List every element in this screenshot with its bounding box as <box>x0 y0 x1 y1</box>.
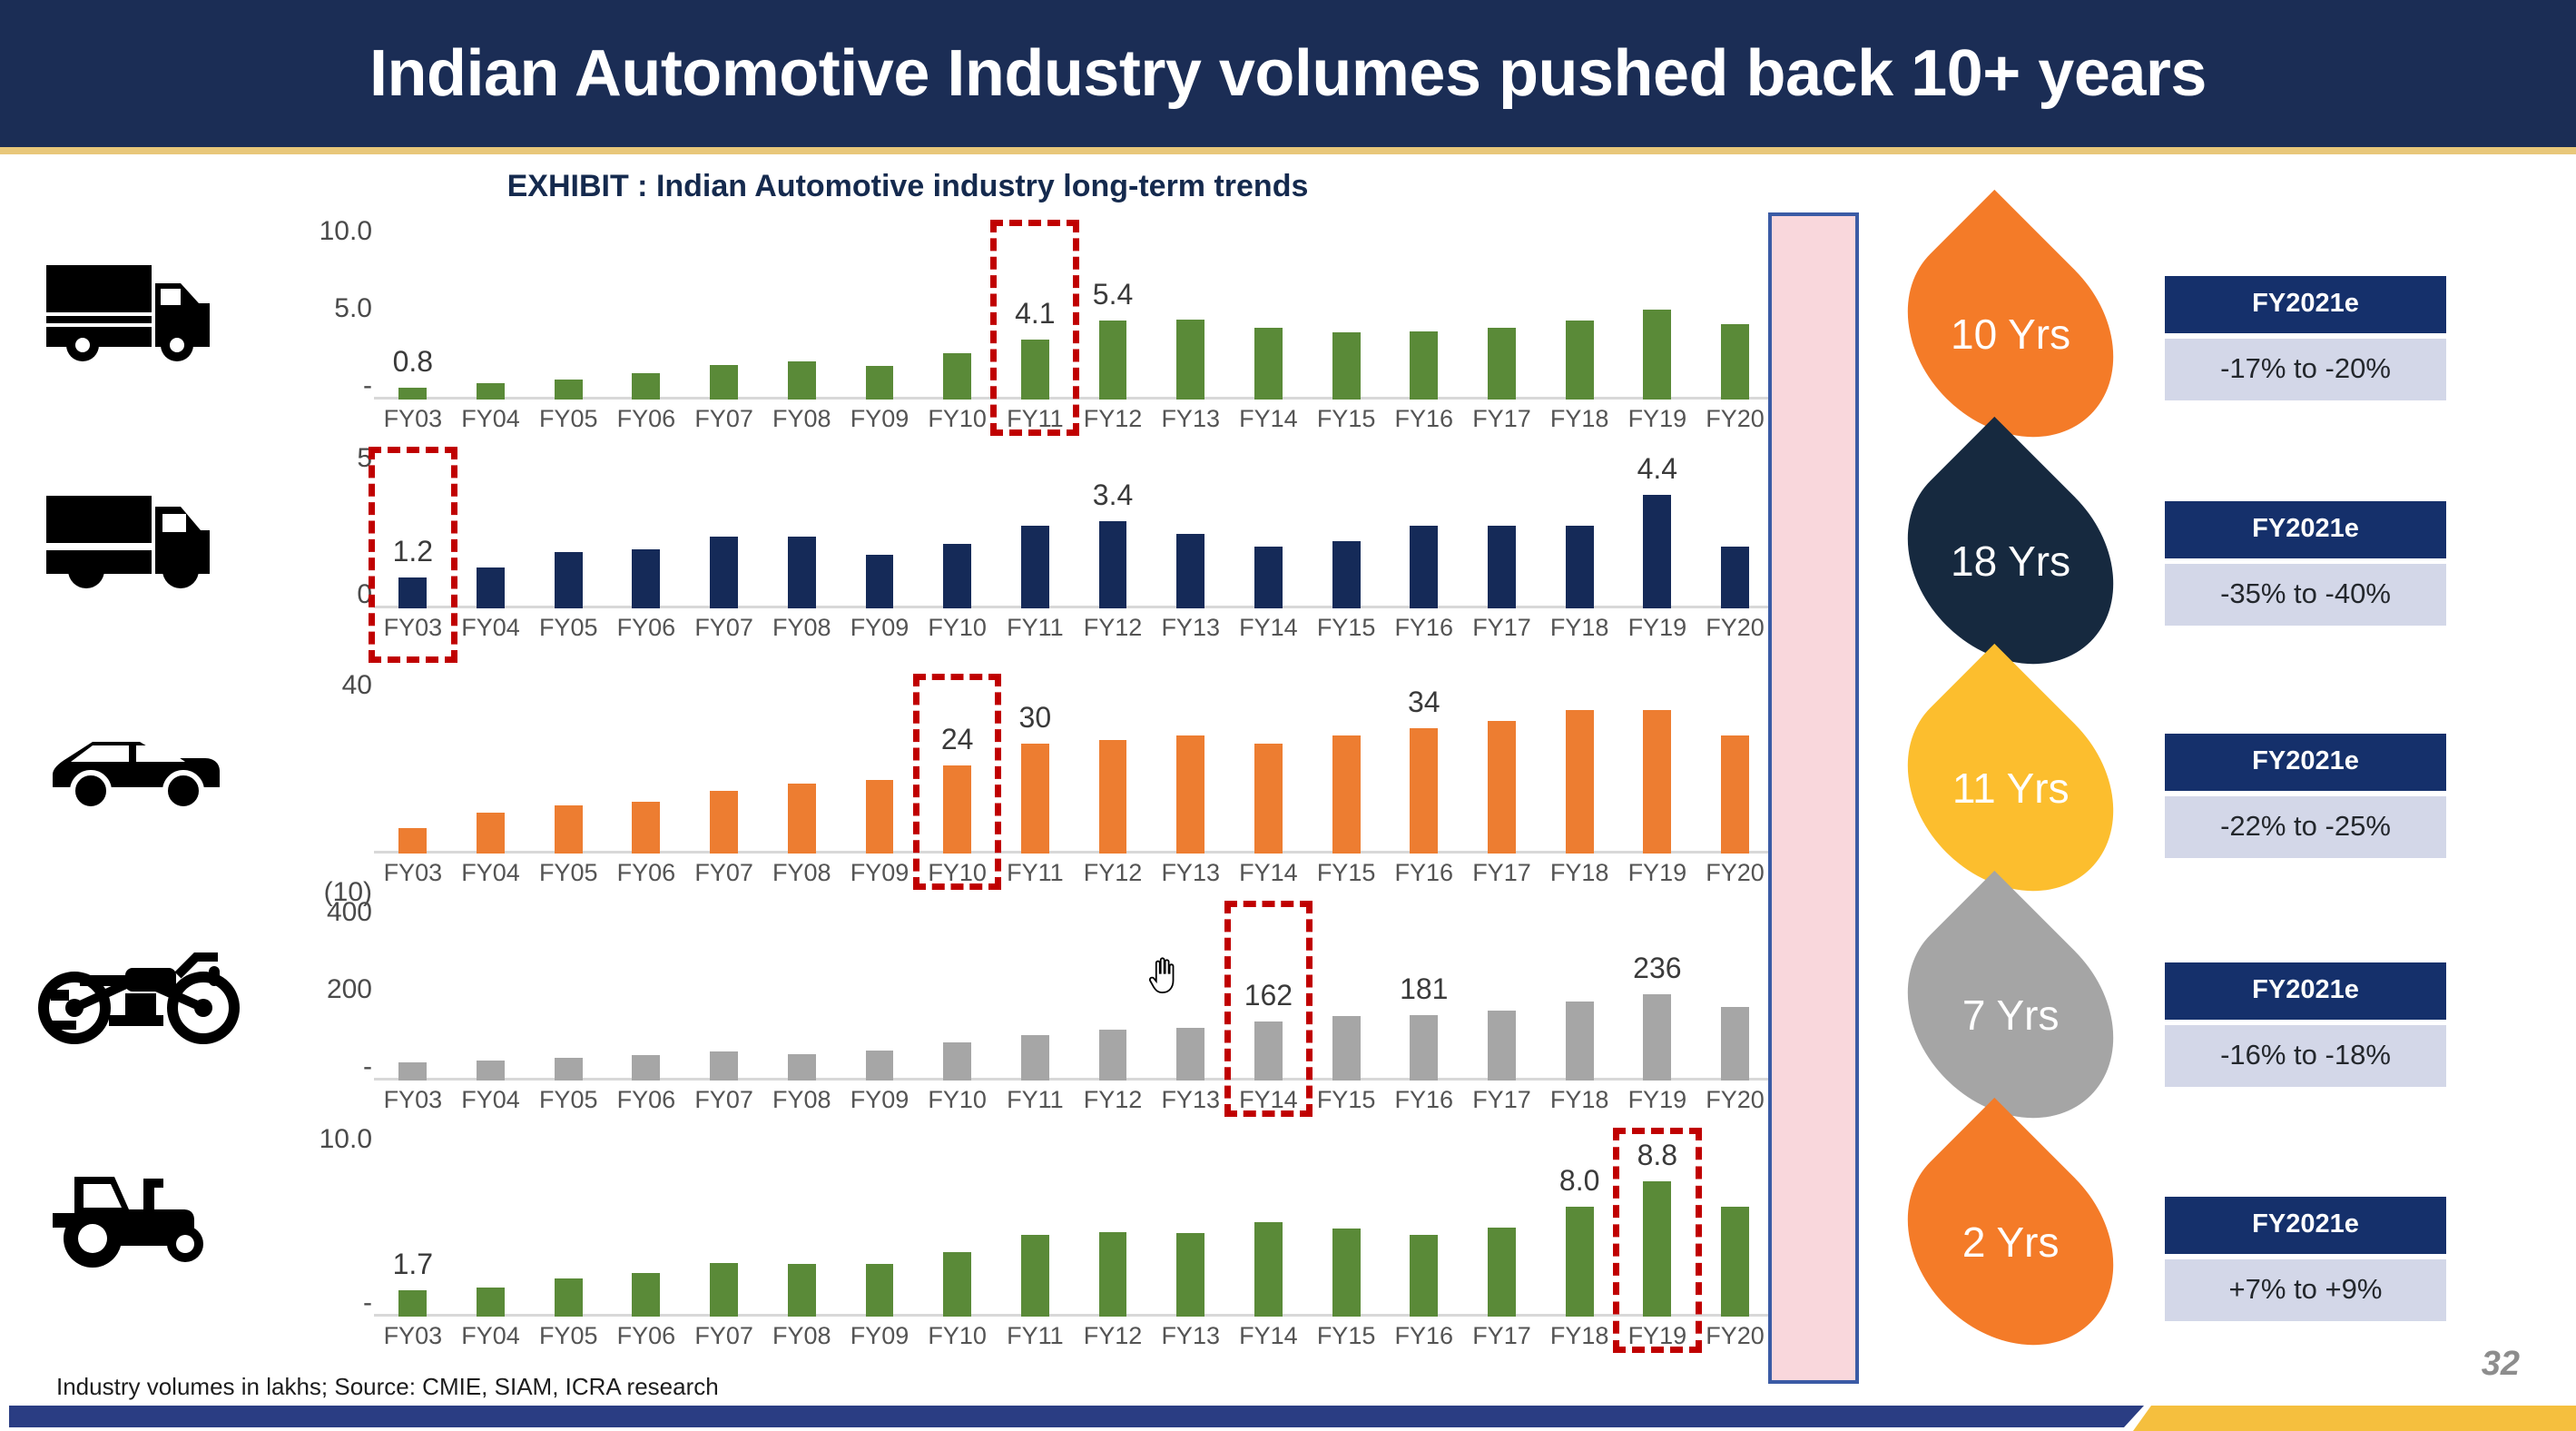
bar[interactable] <box>1332 1229 1361 1317</box>
bar[interactable] <box>1021 1235 1049 1317</box>
bar-chart-pv: 40(10)24303427FY03FY04FY05FY06FY07FY08FY… <box>263 672 1852 899</box>
x-tick-label: FY13 <box>1152 1086 1230 1126</box>
bar-column[interactable]: 5.4 <box>1074 321 1152 400</box>
bar-column[interactable] <box>919 1252 997 1317</box>
bar-column[interactable] <box>1696 735 1775 854</box>
bar[interactable] <box>1021 1035 1049 1081</box>
footer-bar-navy <box>9 1406 2124 1427</box>
bar[interactable] <box>1488 328 1516 400</box>
x-tick-label: FY17 <box>1463 614 1541 654</box>
bar[interactable] <box>1566 1207 1594 1317</box>
page-number: 32 <box>2482 1345 2520 1384</box>
bar[interactable] <box>1410 331 1438 400</box>
x-tick-label: FY06 <box>607 614 685 654</box>
bar-column[interactable] <box>997 526 1075 608</box>
bar-column[interactable] <box>841 1264 919 1317</box>
bar[interactable] <box>788 361 816 400</box>
bar[interactable] <box>1566 710 1594 854</box>
bar[interactable] <box>788 784 816 854</box>
bar[interactable] <box>1176 534 1204 608</box>
callout-box-fy11 <box>990 220 1079 436</box>
plot-area: 0.84.15.44.3FY03FY04FY05FY06FY07FY08FY09… <box>374 231 1852 430</box>
exhibit-subtitle: EXHIBIT : Indian Automotive industry lon… <box>0 169 1815 204</box>
bar-column[interactable] <box>1696 324 1775 400</box>
card-value: -17% to -20% <box>2165 339 2446 400</box>
x-tick-label: FY17 <box>1463 859 1541 899</box>
bar-column[interactable] <box>841 555 919 608</box>
x-tick-label: FY05 <box>529 1322 607 1362</box>
bar[interactable] <box>1176 320 1204 400</box>
bar-column[interactable] <box>1152 735 1230 854</box>
x-tick-label: FY18 <box>1540 859 1618 899</box>
x-tick-label: FY05 <box>529 614 607 654</box>
x-tick-label: FY06 <box>607 859 685 899</box>
bar-column[interactable] <box>1385 526 1463 608</box>
x-tick-label: FY08 <box>762 405 841 445</box>
bar-data-label: 1.7 <box>393 1248 433 1281</box>
charts-plate: 10.05.0-0.84.15.44.3FY03FY04FY05FY06FY07… <box>0 218 2576 1389</box>
plot-area: 1.23.44.41.4FY03FY04FY05FY06FY07FY08FY09… <box>374 458 1852 639</box>
callout-box-fy14 <box>1224 901 1313 1117</box>
bar[interactable] <box>1566 321 1594 400</box>
bar[interactable] <box>1721 1207 1749 1317</box>
car-icon <box>16 681 261 844</box>
bar[interactable] <box>710 1051 738 1081</box>
x-tick-label: FY20 <box>1696 1086 1775 1126</box>
bar-column[interactable] <box>762 361 841 400</box>
bar[interactable] <box>398 828 427 854</box>
bar-column[interactable] <box>841 780 919 854</box>
bar-series: 1.23.44.41.4 <box>374 472 1852 608</box>
bar[interactable] <box>1254 547 1283 608</box>
bar[interactable] <box>1488 721 1516 854</box>
bar[interactable] <box>1643 710 1671 854</box>
bar[interactable] <box>1099 521 1127 608</box>
bar-column[interactable] <box>607 1055 685 1081</box>
bar[interactable] <box>943 544 971 608</box>
bar-column[interactable] <box>1540 1002 1618 1081</box>
bar-column[interactable]: 34 <box>1385 728 1463 854</box>
bar[interactable] <box>1410 526 1438 608</box>
years-badge-tractor[interactable]: 2 Yrs <box>1866 1098 2155 1387</box>
x-tick-label: FY16 <box>1385 1322 1463 1362</box>
bar[interactable] <box>866 366 894 400</box>
bar-data-label: 181 <box>1400 972 1448 1006</box>
bar-column[interactable] <box>685 1263 763 1317</box>
card-header: FY2021e <box>2165 501 2446 558</box>
x-tick-label: FY20 <box>1696 405 1775 445</box>
bar-series: 0.84.15.44.3 <box>374 245 1852 400</box>
bar[interactable] <box>1721 324 1749 400</box>
x-tick-label: FY18 <box>1540 1322 1618 1362</box>
x-tick-label: FY07 <box>685 405 763 445</box>
bar-column[interactable] <box>1540 526 1618 608</box>
bar[interactable] <box>943 1042 971 1081</box>
bar[interactable] <box>555 552 583 608</box>
bar[interactable] <box>1410 728 1438 854</box>
bar-column[interactable] <box>1540 321 1618 400</box>
bar-column[interactable] <box>919 353 997 400</box>
bar-data-label: 5.4 <box>1093 278 1133 311</box>
bar-column[interactable] <box>452 1061 530 1081</box>
bar[interactable] <box>1721 547 1749 608</box>
x-tick-label: FY17 <box>1463 405 1541 445</box>
x-tick-label: FY03 <box>374 1086 452 1126</box>
card-value: -16% to -18% <box>2165 1025 2446 1087</box>
y-tick-label: 200 <box>263 974 372 1005</box>
x-tick-label: FY12 <box>1074 614 1152 654</box>
x-tick-label: FY16 <box>1385 405 1463 445</box>
x-tick-label: FY19 <box>1618 614 1696 654</box>
x-tick-label: FY14 <box>1230 859 1308 899</box>
bar[interactable] <box>398 1290 427 1317</box>
x-tick-label: FY16 <box>1385 859 1463 899</box>
bar[interactable] <box>866 555 894 608</box>
bar-column[interactable]: 8.0 <box>1540 1207 1618 1317</box>
bar[interactable] <box>943 1252 971 1317</box>
bar-column[interactable] <box>841 366 919 400</box>
bar-column[interactable] <box>1230 547 1308 608</box>
bar-column[interactable] <box>1074 1232 1152 1317</box>
bar[interactable] <box>1254 1222 1283 1317</box>
x-tick-label: FY20 <box>1696 1322 1775 1362</box>
x-axis-labels: FY03FY04FY05FY06FY07FY08FY09FY10FY11FY12… <box>374 405 1852 445</box>
bar-column[interactable] <box>1385 331 1463 400</box>
y-tick-label: - <box>263 1051 372 1082</box>
x-tick-label: FY11 <box>997 1322 1075 1362</box>
x-tick-label: FY18 <box>1540 1086 1618 1126</box>
bar-column[interactable] <box>1230 744 1308 854</box>
bar[interactable] <box>632 1273 660 1317</box>
bar-column[interactable] <box>607 549 685 608</box>
bar[interactable] <box>710 365 738 400</box>
x-tick-label: FY05 <box>529 1086 607 1126</box>
x-tick-label: FY05 <box>529 859 607 899</box>
x-tick-label: FY19 <box>1618 859 1696 899</box>
page-title: Indian Automotive Industry volumes pushe… <box>369 36 2207 111</box>
card-header: FY2021e <box>2165 734 2446 791</box>
bar[interactable] <box>477 567 505 608</box>
y-tick-label: 10.0 <box>263 216 372 247</box>
bar[interactable] <box>1410 1015 1438 1081</box>
bar-column[interactable] <box>1540 710 1618 854</box>
x-tick-label: FY07 <box>685 614 763 654</box>
bar-column[interactable] <box>919 544 997 608</box>
bar[interactable] <box>555 1058 583 1081</box>
bar-column[interactable] <box>529 805 607 854</box>
x-tick-label: FY07 <box>685 1086 763 1126</box>
bar-column[interactable] <box>997 1235 1075 1317</box>
bar-column[interactable] <box>1307 1016 1385 1081</box>
bar-column[interactable] <box>1152 1028 1230 1081</box>
bar[interactable] <box>1721 735 1749 854</box>
bar-series: 162181236167 <box>374 926 1852 1081</box>
bar-column[interactable] <box>685 1051 763 1081</box>
card-header: FY2021e <box>2165 962 2446 1020</box>
chart-row-mhcv: 501.23.44.41.4FY03FY04FY05FY06FY07FY08FY… <box>0 445 2576 672</box>
bar-column[interactable] <box>452 383 530 400</box>
y-tick-label: 40 <box>263 670 372 701</box>
bar-column[interactable] <box>1307 332 1385 400</box>
footer-bar-gold <box>2151 1406 2576 1431</box>
x-tick-label: FY08 <box>762 1086 841 1126</box>
bar-column[interactable] <box>529 1278 607 1317</box>
bar-column[interactable] <box>1307 1229 1385 1317</box>
bar-column[interactable] <box>762 1054 841 1081</box>
bar[interactable] <box>555 805 583 854</box>
card-value: +7% to +9% <box>2165 1259 2446 1321</box>
bar-data-label: 8.0 <box>1559 1164 1599 1198</box>
bar[interactable] <box>1099 1030 1127 1081</box>
bar[interactable] <box>1488 526 1516 608</box>
bar[interactable] <box>632 1055 660 1081</box>
bar-column[interactable]: 30 <box>997 744 1075 854</box>
bar[interactable] <box>1254 328 1283 400</box>
bar[interactable] <box>555 380 583 400</box>
bar[interactable] <box>1643 994 1671 1081</box>
bar-column[interactable]: 236 <box>1618 994 1696 1081</box>
truck-icon <box>16 454 261 617</box>
bar[interactable] <box>632 802 660 854</box>
bar-data-label: 236 <box>1633 952 1681 985</box>
y-tick-label: 5 <box>263 443 372 474</box>
x-tick-label: FY14 <box>1230 1322 1308 1362</box>
bar[interactable] <box>943 353 971 400</box>
x-tick-label: FY10 <box>919 614 997 654</box>
x-tick-label: FY20 <box>1696 859 1775 899</box>
bar-data-label: 3.4 <box>1093 479 1133 512</box>
plot-area: 162181236167FY03FY04FY05FY06FY07FY08FY09… <box>374 912 1852 1111</box>
x-tick-label: FY13 <box>1152 405 1230 445</box>
x-tick-label: FY18 <box>1540 614 1618 654</box>
bar-data-label: 30 <box>1019 701 1052 735</box>
bar-column[interactable] <box>1074 1030 1152 1081</box>
bar[interactable] <box>1332 541 1361 608</box>
x-tick-label: FY03 <box>374 405 452 445</box>
bar-column[interactable] <box>374 828 452 854</box>
bar-column[interactable] <box>452 567 530 608</box>
bar-column[interactable] <box>762 537 841 608</box>
bar[interactable] <box>1099 1232 1127 1317</box>
bar[interactable] <box>477 1061 505 1081</box>
years-badge-label: 2 Yrs <box>1962 1218 2060 1267</box>
bar-column[interactable] <box>1385 1235 1463 1317</box>
years-badge-label: 18 Yrs <box>1951 537 2070 586</box>
x-tick-label: FY15 <box>1307 1086 1385 1126</box>
x-tick-label: FY13 <box>1152 859 1230 899</box>
motorcycle-icon <box>16 908 261 1071</box>
bar-column[interactable] <box>1463 1011 1541 1081</box>
bar[interactable] <box>1099 740 1127 854</box>
bar[interactable] <box>866 780 894 854</box>
fy2021e-card-two-wheeler: FY2021e-16% to -18% <box>2165 962 2446 1087</box>
bar[interactable] <box>1721 1007 1749 1081</box>
bar-chart-mhcv: 501.23.44.41.4FY03FY04FY05FY06FY07FY08FY… <box>263 445 1852 672</box>
bar-column[interactable]: 3.4 <box>1074 521 1152 608</box>
bar[interactable] <box>398 1062 427 1081</box>
y-tick-label: - <box>263 370 372 401</box>
y-tick-label: 5.0 <box>263 293 372 324</box>
bar-column[interactable] <box>1230 328 1308 400</box>
bar-column[interactable] <box>529 380 607 400</box>
bar-column[interactable] <box>452 813 530 854</box>
x-tick-label: FY05 <box>529 405 607 445</box>
callout-box-fy10 <box>913 674 1002 890</box>
bar-column[interactable] <box>529 552 607 608</box>
x-tick-label: FY09 <box>841 1322 919 1362</box>
bar-column[interactable] <box>1618 710 1696 854</box>
x-tick-label: FY07 <box>685 1322 763 1362</box>
x-tick-label: FY15 <box>1307 859 1385 899</box>
x-tick-label: FY12 <box>1074 405 1152 445</box>
bar-data-label: 34 <box>1408 686 1440 719</box>
bar[interactable] <box>1566 1002 1594 1081</box>
bar[interactable] <box>1643 495 1671 608</box>
bar[interactable] <box>866 1051 894 1081</box>
bar-column[interactable] <box>452 1288 530 1317</box>
x-tick-label: FY18 <box>1540 405 1618 445</box>
x-tick-label: FY11 <box>997 859 1075 899</box>
bar-column[interactable] <box>685 537 763 608</box>
bar[interactable] <box>1643 310 1671 400</box>
bar-column[interactable] <box>1463 526 1541 608</box>
x-tick-label: FY15 <box>1307 1322 1385 1362</box>
bar[interactable] <box>788 537 816 608</box>
bar-column[interactable] <box>1696 1007 1775 1081</box>
x-tick-label: FY09 <box>841 1086 919 1126</box>
plot-area: 24303427FY03FY04FY05FY06FY07FY08FY09FY10… <box>374 685 1852 884</box>
x-tick-label: FY19 <box>1618 405 1696 445</box>
bar-column[interactable]: 4.4 <box>1618 495 1696 608</box>
bar-column[interactable] <box>1463 1228 1541 1317</box>
bar-column[interactable] <box>607 802 685 854</box>
bar[interactable] <box>1021 744 1049 854</box>
bar-column[interactable] <box>1463 721 1541 854</box>
years-badge-label: 11 Yrs <box>1952 764 2070 813</box>
x-tick-label: FY06 <box>607 1322 685 1362</box>
x-tick-label: FY08 <box>762 1322 841 1362</box>
x-tick-label: FY10 <box>919 1086 997 1126</box>
x-tick-label: FY04 <box>452 859 530 899</box>
bar[interactable] <box>1254 744 1283 854</box>
bar-column[interactable]: 0.8 <box>374 388 452 400</box>
bar[interactable] <box>1176 1233 1204 1317</box>
fy21p-highlight-band <box>1768 212 1859 1384</box>
bar-column[interactable] <box>1307 541 1385 608</box>
bar[interactable] <box>477 1288 505 1317</box>
bar-data-label: 0.8 <box>393 345 433 379</box>
bar-column[interactable] <box>607 1273 685 1317</box>
bar-column[interactable] <box>1307 735 1385 854</box>
bar[interactable] <box>1176 1028 1204 1081</box>
bar[interactable] <box>710 537 738 608</box>
bar-data-label: 4.4 <box>1637 452 1677 486</box>
chart-row-pv: 40(10)24303427FY03FY04FY05FY06FY07FY08FY… <box>0 672 2576 899</box>
x-tick-label: FY03 <box>374 1322 452 1362</box>
bar-column[interactable] <box>1074 740 1152 854</box>
bar[interactable] <box>710 791 738 854</box>
x-axis-labels: FY03FY04FY05FY06FY07FY08FY09FY10FY11FY12… <box>374 1086 1852 1126</box>
bar[interactable] <box>1332 735 1361 854</box>
bar-column[interactable] <box>762 1264 841 1317</box>
bar-column[interactable] <box>1152 534 1230 608</box>
x-tick-label: FY13 <box>1152 614 1230 654</box>
bar-column[interactable] <box>841 1051 919 1081</box>
bar[interactable] <box>1332 332 1361 400</box>
bar-column[interactable] <box>1152 320 1230 400</box>
bar[interactable] <box>710 1263 738 1317</box>
bar[interactable] <box>1488 1011 1516 1081</box>
bar[interactable] <box>1566 526 1594 608</box>
x-axis-labels: FY03FY04FY05FY06FY07FY08FY09FY10FY11FY12… <box>374 859 1852 899</box>
bar[interactable] <box>632 373 660 400</box>
bar[interactable] <box>1488 1228 1516 1317</box>
bar[interactable] <box>555 1278 583 1317</box>
bar[interactable] <box>788 1054 816 1081</box>
x-tick-label: FY09 <box>841 405 919 445</box>
bar-column[interactable] <box>1696 1207 1775 1317</box>
bar-column[interactable] <box>374 1062 452 1081</box>
years-badge-label: 7 Yrs <box>1962 991 2060 1040</box>
bar[interactable] <box>477 383 505 400</box>
x-tick-label: FY16 <box>1385 1086 1463 1126</box>
bar-column[interactable]: 181 <box>1385 1015 1463 1081</box>
bar[interactable] <box>1410 1235 1438 1317</box>
x-tick-label: FY09 <box>841 614 919 654</box>
callout-box-fy19 <box>1613 1128 1702 1353</box>
bar[interactable] <box>1099 321 1127 400</box>
bar-column[interactable]: 1.7 <box>374 1290 452 1317</box>
bar-column[interactable] <box>1696 547 1775 608</box>
x-tick-label: FY12 <box>1074 859 1152 899</box>
bar[interactable] <box>632 549 660 608</box>
bar-column[interactable] <box>997 1035 1075 1081</box>
x-tick-label: FY17 <box>1463 1322 1541 1362</box>
bar[interactable] <box>788 1264 816 1317</box>
bar-column[interactable] <box>685 365 763 400</box>
hand-cursor-icon <box>1145 955 1182 997</box>
bar[interactable] <box>1021 526 1049 608</box>
bar[interactable] <box>1176 735 1204 854</box>
bar-column[interactable] <box>529 1058 607 1081</box>
y-tick-label: - <box>263 1288 372 1318</box>
bar[interactable] <box>398 388 427 400</box>
x-tick-label: FY17 <box>1463 1086 1541 1126</box>
bar-column[interactable] <box>762 784 841 854</box>
x-tick-label: FY15 <box>1307 405 1385 445</box>
bar-column[interactable] <box>1463 328 1541 400</box>
x-tick-label: FY04 <box>452 614 530 654</box>
x-tick-label: FY10 <box>919 405 997 445</box>
bar-column[interactable] <box>1618 310 1696 400</box>
bar-column[interactable] <box>1152 1233 1230 1317</box>
bar-column[interactable] <box>607 373 685 400</box>
bar[interactable] <box>1332 1016 1361 1081</box>
card-value: -35% to -40% <box>2165 564 2446 626</box>
card-value: -22% to -25% <box>2165 796 2446 858</box>
slide-root: Indian Automotive Industry volumes pushe… <box>0 0 2576 1431</box>
x-tick-label: FY09 <box>841 859 919 899</box>
card-header: FY2021e <box>2165 276 2446 333</box>
fy2021e-card-pv: FY2021e-22% to -25% <box>2165 734 2446 858</box>
slide-header: Indian Automotive Industry volumes pushe… <box>0 0 2576 154</box>
bar-column[interactable] <box>685 791 763 854</box>
bar-column[interactable] <box>1230 1222 1308 1317</box>
bar[interactable] <box>866 1264 894 1317</box>
bar-column[interactable] <box>919 1042 997 1081</box>
fy2021e-card-lcv: FY2021e-17% to -20% <box>2165 276 2446 400</box>
bar[interactable] <box>477 813 505 854</box>
